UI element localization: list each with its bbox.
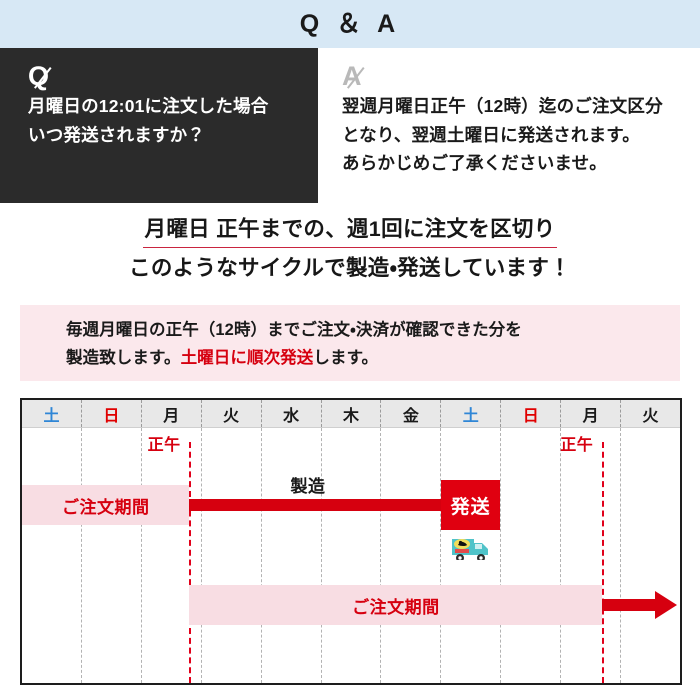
question-letter-badge: Q (28, 62, 71, 90)
slash-icon (49, 65, 71, 87)
calendar-grid-column (81, 428, 141, 683)
calendar-day-header-cell: 日 (81, 400, 141, 427)
calendar-grid-column (261, 428, 321, 683)
infographic-page: Q ＆ A Q 月曜日の12:01に注文した場合 いつ発送されますか？ A 翌週… (0, 0, 700, 700)
shipping-box: 発送 (441, 480, 501, 530)
answer-line-3: あらかじめご了承くださいませ。 (342, 149, 686, 177)
calendar-grid-column (560, 428, 620, 683)
question-line-1: 月曜日の12:01に注文した場合 (28, 92, 300, 120)
manufacturing-label: 製造 (290, 472, 325, 497)
calendar-grid-column (321, 428, 381, 683)
calendar-grid-column (22, 428, 81, 683)
calendar-grid-column (201, 428, 261, 683)
manufacturing-arrow-shaft (189, 499, 452, 511)
answer-letter-badge: A (342, 62, 384, 90)
calendar-day-header-cell: 木 (321, 400, 381, 427)
calendar-grid (22, 428, 680, 683)
answer-text: 翌週月曜日正午（12時）迄のご注文区分 となり、翌週土曜日に発送されます。 あら… (342, 92, 686, 177)
noon-line-week1 (189, 442, 191, 683)
order-period-label: ご注文期間 (352, 593, 440, 618)
order-period-label: ご注文期間 (62, 493, 150, 518)
question-text: 月曜日の12:01に注文した場合 いつ発送されますか？ (28, 92, 300, 149)
question-block: Q 月曜日の12:01に注文した場合 いつ発送されますか？ (0, 48, 318, 203)
answer-line-2: となり、翌週土曜日に発送されます。 (342, 121, 686, 149)
calendar-grid-column (141, 428, 201, 683)
noon-line-week2 (602, 442, 604, 683)
delivery-truck-icon (449, 534, 493, 571)
calendar-day-header-cell: 月 (141, 400, 201, 427)
page-title: Q ＆ A (300, 12, 400, 37)
calendar-day-header-cell: 土 (22, 400, 81, 427)
calendar-grid-column (500, 428, 560, 683)
notice-line-2-after: します。 (313, 349, 378, 367)
headline-line-1: 月曜日 正午までの、週1回に注文を区切り (143, 215, 558, 248)
question-letter: Q (28, 61, 49, 91)
calendar-day-header-cell: 金 (380, 400, 440, 427)
answer-block: A 翌週月曜日正午（12時）迄のご注文区分 となり、翌週土曜日に発送されます。 … (318, 48, 700, 203)
calendar-day-header: 土日月火水木金土日月火 (22, 400, 680, 428)
answer-line-1: 翌週月曜日正午（12時）迄のご注文区分 (342, 92, 686, 120)
shipping-label: 発送 (451, 492, 491, 519)
continue-arrow-head (655, 591, 677, 619)
notice-line-2-before: 製造致します。 (66, 349, 181, 367)
schedule-calendar: 土日月火水木金土日月火 正午 正午 ご注文期間 製造 発送 (20, 398, 682, 685)
headline: 月曜日 正午までの、週1回に注文を区切り このようなサイクルで製造・発送していま… (0, 215, 700, 284)
calendar-grid-column (620, 428, 680, 683)
order-period-band-week2: ご注文期間 (189, 585, 602, 625)
question-line-2: いつ発送されますか？ (28, 121, 300, 149)
calendar-day-header-cell: 日 (500, 400, 560, 427)
notice-line-2-emphasis: 土曜日に順次発送 (181, 349, 314, 367)
noon-label-week2: 正午 (560, 438, 593, 454)
answer-letter: A (342, 61, 362, 91)
continue-arrow-shaft (602, 599, 656, 611)
calendar-day-header-cell: 火 (201, 400, 261, 427)
calendar-body: 正午 正午 ご注文期間 製造 発送 (22, 428, 680, 683)
calendar-day-header-cell: 火 (620, 400, 680, 427)
notice-line-2: 製造致します。土曜日に順次発送します。 (66, 344, 680, 372)
notice-line-1: 毎週月曜日の正午（12時）までご注文・決済が確認できた分を (66, 316, 680, 344)
noon-label-week1: 正午 (148, 438, 181, 454)
calendar-day-header-cell: 土 (440, 400, 500, 427)
order-period-band-week1: ご注文期間 (22, 485, 189, 525)
headline-line-2: このようなサイクルで製造・発送しています！ (0, 253, 700, 284)
slash-icon (362, 65, 384, 87)
calendar-grid-column (380, 428, 440, 683)
calendar-day-header-cell: 水 (261, 400, 321, 427)
notice-box: 毎週月曜日の正午（12時）までご注文・決済が確認できた分を 製造致します。土曜日… (20, 305, 680, 381)
qa-header-band: Q ＆ A (0, 0, 700, 48)
calendar-day-header-cell: 月 (560, 400, 620, 427)
